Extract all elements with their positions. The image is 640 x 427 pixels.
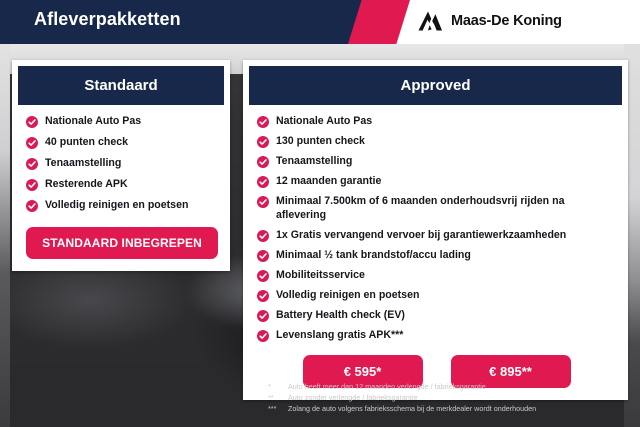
check-circle-icon: [257, 290, 269, 302]
check-circle-icon: [257, 250, 269, 262]
footnote-text: Auto heeft meer dan 12 maanden verlengde…: [288, 381, 486, 392]
footnote-row: * Auto heeft meer dan 12 maanden verleng…: [268, 381, 628, 392]
card-approved: Approved Nationale Auto Pas 130 punten c…: [243, 60, 628, 400]
list-item: Nationale Auto Pas: [257, 115, 616, 129]
footnote-row: ** Auto zonder verlengde / fabrieksgaran…: [268, 392, 628, 403]
check-circle-icon: [257, 176, 269, 188]
check-circle-icon: [26, 200, 38, 212]
feature-label: Volledig reinigen en poetsen: [276, 289, 419, 303]
list-item: 40 punten check: [26, 136, 218, 150]
check-circle-icon: [257, 270, 269, 282]
check-circle-icon: [26, 137, 38, 149]
list-item: Tenaamstelling: [257, 155, 616, 169]
list-item: Minimaal ½ tank brandstof/accu lading: [257, 249, 616, 263]
check-circle-icon: [257, 196, 269, 208]
check-circle-icon: [257, 330, 269, 342]
footnote-text: Zolang de auto volgens fabrieksschema bi…: [288, 403, 536, 414]
feature-label: Levenslang gratis APK***: [276, 329, 403, 343]
feature-label: Volledig reinigen en poetsen: [45, 199, 188, 213]
list-item: 12 maanden garantie: [257, 175, 616, 189]
footnote-marker: **: [268, 392, 282, 403]
check-circle-icon: [257, 136, 269, 148]
list-item: Tenaamstelling: [26, 157, 218, 171]
list-item: Volledig reinigen en poetsen: [257, 289, 616, 303]
feature-label: Resterende APK: [45, 178, 128, 192]
list-item: Volledig reinigen en poetsen: [26, 199, 218, 213]
check-circle-icon: [26, 116, 38, 128]
list-item: Levenslang gratis APK***: [257, 329, 616, 343]
list-item: Nationale Auto Pas: [26, 115, 218, 129]
list-item: Battery Health check (EV): [257, 309, 616, 323]
check-circle-icon: [257, 310, 269, 322]
feature-label: 40 punten check: [45, 136, 128, 150]
feature-label: Tenaamstelling: [276, 155, 352, 169]
footnote-marker: ***: [268, 403, 282, 414]
footnotes: * Auto heeft meer dan 12 maanden verleng…: [268, 381, 628, 414]
check-circle-icon: [257, 116, 269, 128]
card-standaard-title: Standaard: [18, 66, 224, 105]
check-circle-icon: [257, 156, 269, 168]
brand-logo: Maas-De Koning: [417, 10, 562, 32]
feature-label: 1x Gratis vervangend vervoer bij garanti…: [276, 229, 566, 243]
card-standaard-body: Nationale Auto Pas 40 punten check Tenaa…: [12, 105, 230, 271]
check-circle-icon: [26, 179, 38, 191]
feature-label: Nationale Auto Pas: [276, 115, 372, 129]
list-item: Mobiliteitsservice: [257, 269, 616, 283]
list-item: Minimaal 7.500km of 6 maanden onderhouds…: [257, 195, 616, 223]
standaard-feature-list: Nationale Auto Pas 40 punten check Tenaa…: [26, 115, 218, 213]
feature-label: Minimaal ½ tank brandstof/accu lading: [276, 249, 471, 263]
footnote-marker: *: [268, 381, 282, 392]
list-item: 130 punten check: [257, 135, 616, 149]
card-standaard: Standaard Nationale Auto Pas 40 punten c…: [12, 60, 230, 271]
standaard-inbegrepen-button[interactable]: STANDAARD INBEGREPEN: [26, 227, 218, 259]
maas-de-koning-m-logo-icon: [417, 10, 443, 32]
feature-label: Tenaamstelling: [45, 157, 121, 171]
feature-label: Nationale Auto Pas: [45, 115, 141, 129]
footnote-text: Auto zonder verlengde / fabrieksgarantie: [288, 392, 417, 403]
card-approved-body: Nationale Auto Pas 130 punten check Tena…: [243, 105, 628, 400]
approved-feature-list: Nationale Auto Pas 130 punten check Tena…: [257, 115, 616, 343]
feature-label: Minimaal 7.500km of 6 maanden onderhouds…: [276, 195, 616, 223]
background-left-strip: [0, 44, 10, 427]
page-title: Afleverpakketten: [34, 9, 181, 30]
footnote-row: *** Zolang de auto volgens fabrieksschem…: [268, 403, 628, 414]
afleverpakketten-slide: Afleverpakketten Maas-De Koning Standaar…: [0, 0, 640, 427]
list-item: Resterende APK: [26, 178, 218, 192]
check-circle-icon: [26, 158, 38, 170]
page-header: Afleverpakketten Maas-De Koning: [0, 0, 640, 44]
feature-label: Battery Health check (EV): [276, 309, 405, 323]
card-approved-title: Approved: [249, 66, 622, 105]
brand-name: Maas-De Koning: [451, 13, 562, 29]
feature-label: 12 maanden garantie: [276, 175, 381, 189]
check-circle-icon: [257, 230, 269, 242]
feature-label: 130 punten check: [276, 135, 365, 149]
feature-label: Mobiliteitsservice: [276, 269, 365, 283]
list-item: 1x Gratis vervangend vervoer bij garanti…: [257, 229, 616, 243]
